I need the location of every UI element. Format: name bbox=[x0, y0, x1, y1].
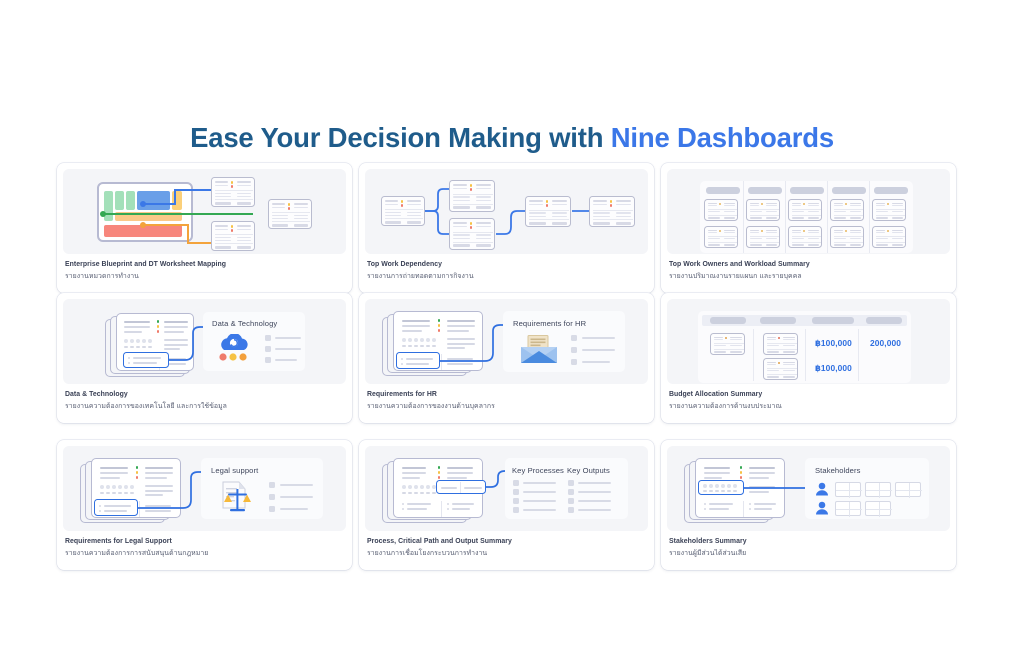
card-title: Data & Technology bbox=[65, 391, 344, 400]
dashboard-card-top-work-dependency[interactable]: Top Work Dependency รายงานการถ่ายทอดตามก… bbox=[359, 163, 654, 293]
budget-row-card bbox=[710, 333, 745, 355]
kanban-card bbox=[872, 226, 906, 248]
card-label: Process, Critical Path and Output Summar… bbox=[365, 531, 648, 559]
budget-amount-3: ฿100,000 bbox=[815, 363, 852, 373]
person-icon bbox=[815, 501, 829, 515]
thumbnail-stakeholders: Stakeholders bbox=[667, 446, 950, 531]
dashboard-card-requirements-legal-support[interactable]: Legal support bbox=[57, 440, 352, 570]
dashboard-card-top-work-owners[interactable]: Top Work Owners and Workload Summary ราย… bbox=[661, 163, 956, 293]
card-subtitle: รายงานความต้องการของเทคโนโลยี และการใช้ข… bbox=[65, 402, 344, 412]
connector-orange-dot bbox=[140, 222, 146, 228]
budget-amount-2: 200,000 bbox=[870, 338, 901, 348]
card-title: Stakeholders Summary bbox=[669, 538, 948, 547]
blueprint-block-green-1 bbox=[104, 191, 113, 221]
budget-row-card bbox=[763, 333, 798, 355]
mini-card-bottom bbox=[211, 221, 255, 251]
detail-panel: Key Processes Key Outputs bbox=[505, 458, 628, 519]
blueprint-frame bbox=[97, 182, 193, 242]
budget-amount-1: ฿100,000 bbox=[815, 338, 852, 348]
page-title-primary: Ease Your Decision Making with bbox=[190, 122, 611, 153]
card-subtitle: รายงานปริมาณงานรายแผนก และรายบุคคล bbox=[669, 272, 948, 282]
card-subtitle: รายงานการถ่ายทอดตามการกิจงาน bbox=[367, 272, 646, 282]
dashboard-card-data-and-technology[interactable]: Data & Technology bbox=[57, 293, 352, 423]
dashboard-card-process-critical-path[interactable]: Key Processes Key Outputs bbox=[359, 440, 654, 570]
kanban-card bbox=[704, 226, 738, 248]
card-label: Requirements for HR รายงานความต้องการของ… bbox=[365, 384, 648, 412]
card-title: Requirements for HR bbox=[367, 391, 646, 400]
stakeholder-mini-card bbox=[865, 482, 891, 497]
card-title: Budget Allocation Summary bbox=[669, 391, 948, 400]
card-title: Top Work Dependency bbox=[367, 261, 646, 270]
kanban-card bbox=[830, 226, 864, 248]
dashboard-card-budget-allocation[interactable]: ฿100,000 200,000 ฿100,000 Budget Allocat… bbox=[661, 293, 956, 423]
flow-node-1 bbox=[381, 196, 425, 226]
page-title: Ease Your Decision Making with Nine Dash… bbox=[0, 122, 1024, 154]
panel-title-key-outputs: Key Outputs bbox=[567, 466, 610, 475]
kanban-card bbox=[704, 199, 738, 221]
thumbnail-legal-support: Legal support bbox=[63, 446, 346, 531]
connector-blue-v bbox=[174, 189, 176, 204]
connector-blue-dot bbox=[140, 201, 146, 207]
kanban-card bbox=[746, 199, 780, 221]
kanban-card bbox=[788, 199, 822, 221]
thumbnail-blueprint-mapping bbox=[63, 169, 346, 254]
card-label: Budget Allocation Summary รายงานความต้อง… bbox=[667, 384, 950, 412]
detail-panel: Requirements for HR bbox=[503, 311, 625, 372]
card-label: Data & Technology รายงานความต้องการของเท… bbox=[63, 384, 346, 412]
kanban-board bbox=[700, 181, 913, 253]
mini-card-right bbox=[268, 199, 312, 229]
card-label: Top Work Owners and Workload Summary ราย… bbox=[667, 254, 950, 282]
card-label: Stakeholders Summary รายงานผู้มีส่วนได้ส… bbox=[667, 531, 950, 559]
envelope-icon bbox=[517, 334, 561, 366]
stakeholder-mini-card bbox=[835, 501, 861, 516]
detail-panel: Legal support bbox=[201, 458, 323, 519]
stakeholder-mini-card bbox=[835, 482, 861, 497]
card-label: Enterprise Blueprint and DT Worksheet Ma… bbox=[63, 254, 346, 282]
connector-orange-v bbox=[187, 224, 189, 244]
page-title-accent: Nine Dashboards bbox=[611, 122, 834, 153]
flow-node-2 bbox=[449, 180, 495, 212]
card-title: Enterprise Blueprint and DT Worksheet Ma… bbox=[65, 261, 344, 270]
card-subtitle: รายงานการเชื่อมโยงกระบวนการทำงาน bbox=[367, 549, 646, 559]
kanban-card bbox=[830, 199, 864, 221]
connector-green-dot bbox=[100, 211, 106, 217]
panel-title: Requirements for HR bbox=[513, 319, 586, 328]
stakeholder-mini-card bbox=[865, 501, 891, 516]
thumbnail-data-technology: Data & Technology bbox=[63, 299, 346, 384]
detail-panel: Data & Technology bbox=[203, 312, 305, 371]
kanban-card bbox=[788, 226, 822, 248]
card-title: Process, Critical Path and Output Summar… bbox=[367, 538, 646, 547]
thumbnail-kanban-board bbox=[667, 169, 950, 254]
thumbnail-requirements-hr: Requirements for HR bbox=[365, 299, 648, 384]
flow-node-5 bbox=[589, 196, 635, 227]
connector-green-line bbox=[103, 213, 253, 215]
cloud-icon bbox=[214, 334, 260, 364]
card-title: Top Work Owners and Workload Summary bbox=[669, 261, 948, 270]
dashboard-card-grid: Enterprise Blueprint and DT Worksheet Ma… bbox=[57, 163, 962, 587]
dashboard-card-enterprise-blueprint[interactable]: Enterprise Blueprint and DT Worksheet Ma… bbox=[57, 163, 352, 293]
scales-icon bbox=[215, 480, 259, 512]
dashboard-card-requirements-for-hr[interactable]: Requirements for HR bbox=[359, 293, 654, 423]
mini-card-top bbox=[211, 177, 255, 207]
panel-title: Stakeholders bbox=[815, 466, 861, 475]
blueprint-block-green-2 bbox=[115, 191, 124, 210]
card-subtitle: รายงานหมวดการทำงาน bbox=[65, 272, 344, 282]
connector-orange-h2 bbox=[187, 242, 211, 244]
panel-title: Legal support bbox=[211, 466, 258, 475]
budget-table: ฿100,000 200,000 ฿100,000 bbox=[698, 311, 911, 383]
dashboard-overview-page: Ease Your Decision Making with Nine Dash… bbox=[0, 0, 1024, 669]
thumbnail-process-critical-path: Key Processes Key Outputs bbox=[365, 446, 648, 531]
flow-node-3 bbox=[449, 218, 495, 250]
panel-title-key-processes: Key Processes bbox=[512, 466, 564, 475]
blueprint-block-green-3 bbox=[126, 191, 135, 210]
connector-orange-h1 bbox=[143, 224, 189, 226]
thumbnail-dependency-flow bbox=[365, 169, 648, 254]
stakeholder-mini-card bbox=[895, 482, 921, 497]
card-label: Top Work Dependency รายงานการถ่ายทอดตามก… bbox=[365, 254, 648, 282]
connector-blue-h2 bbox=[174, 189, 211, 191]
budget-row-card bbox=[763, 358, 798, 380]
kanban-card bbox=[872, 199, 906, 221]
card-subtitle: รายงานผู้มีส่วนได้ส่วนเสีย bbox=[669, 549, 948, 559]
thumbnail-budget-table: ฿100,000 200,000 ฿100,000 bbox=[667, 299, 950, 384]
connector-blue-h1 bbox=[143, 203, 176, 205]
card-subtitle: รายงานความต้องการของงานด้านบุคลากร bbox=[367, 402, 646, 412]
kanban-card bbox=[746, 226, 780, 248]
person-icon bbox=[815, 482, 829, 496]
card-subtitle: รายงานความต้องการการสนับสนุนด้านกฎหมาย bbox=[65, 549, 344, 559]
card-label: Requirements for Legal Support รายงานควา… bbox=[63, 531, 346, 559]
panel-title: Data & Technology bbox=[212, 319, 277, 328]
flow-node-4 bbox=[525, 196, 571, 227]
card-subtitle: รายงานความต้องการด้านงบประมาณ bbox=[669, 402, 948, 412]
dashboard-card-stakeholders-summary[interactable]: Stakeholders Sta bbox=[661, 440, 956, 570]
detail-panel: Stakeholders bbox=[805, 458, 929, 519]
card-title: Requirements for Legal Support bbox=[65, 538, 344, 547]
